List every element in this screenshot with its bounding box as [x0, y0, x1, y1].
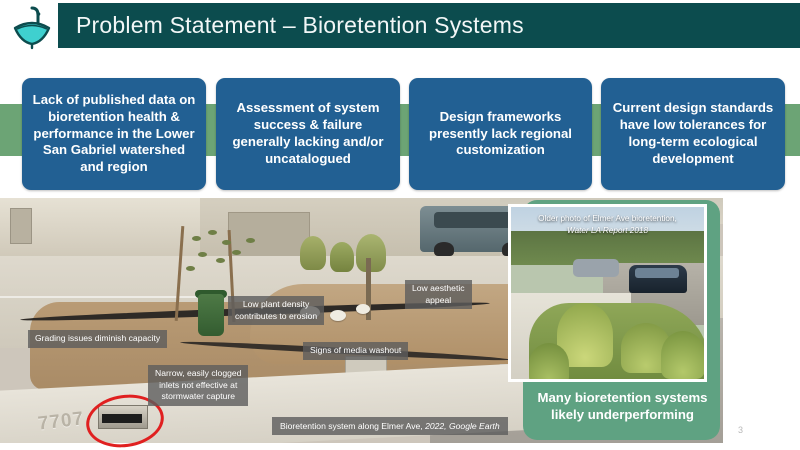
- annotation-low-aesthetic-appeal: Low aesthetic appeal: [405, 280, 472, 309]
- inset-suv-windshield: [635, 268, 679, 278]
- inset-caption-main: Older photo of Elmer Ave bioretention,: [538, 214, 677, 223]
- photo-shrub-3: [356, 234, 386, 272]
- problem-box-4: Current design standards have low tolera…: [601, 78, 785, 190]
- annotation-grading-issues: Grading issues diminish capacity: [28, 330, 167, 348]
- photo-caption-source: 2022, Google Earth: [425, 421, 500, 431]
- inset-caption-source: Water LA Report 2018: [567, 226, 648, 235]
- annotation-low-plant-density: Low plant density contributes to erosion: [228, 296, 324, 325]
- problem-box-2: Assessment of system success & failure g…: [216, 78, 400, 190]
- conclusion-text: Many bioretention systems likely underpe…: [530, 389, 715, 423]
- problem-box-1: Lack of published data on bioretention h…: [22, 78, 206, 190]
- problem-box-4-text: Current design standards have low tolera…: [601, 100, 785, 168]
- problem-box-2-text: Assessment of system success & failure g…: [216, 100, 400, 168]
- photo-window: [10, 208, 32, 244]
- inset-photo-older-elmer-ave: Older photo of Elmer Ave bioretention,Wa…: [508, 204, 707, 382]
- photo-car-window: [434, 212, 512, 228]
- inset-background-cars: [573, 259, 619, 277]
- photo-shrub-1: [300, 236, 326, 270]
- photo-green-trash-can: [198, 294, 224, 336]
- photo-rock-3: [356, 304, 370, 314]
- photo-caption-main: Bioretention system along Elmer Ave,: [280, 421, 425, 431]
- photo-rock-2: [330, 310, 346, 321]
- photo-caption: Bioretention system along Elmer Ave, 202…: [272, 417, 508, 435]
- slide-title-bar: Problem Statement – Bioretention Systems: [58, 3, 800, 48]
- slide-canvas: Problem Statement – Bioretention Systems…: [0, 0, 800, 450]
- inset-grass-clump-4: [661, 331, 705, 379]
- page-title: Problem Statement – Bioretention Systems: [76, 11, 524, 38]
- water-drop-umbrella-logo: [6, 2, 58, 52]
- photo-shrub-2: [330, 242, 354, 272]
- annotation-media-washout: Signs of media washout: [303, 342, 408, 360]
- problem-box-3-text: Design frameworks presently lack regiona…: [409, 109, 592, 160]
- inset-caption: Older photo of Elmer Ave bioretention,Wa…: [511, 213, 704, 237]
- photo-car-wheel-front: [434, 242, 454, 256]
- annotation-clogged-inlets: Narrow, easily clogged inlets not effect…: [148, 365, 248, 406]
- problem-box-1-text: Lack of published data on bioretention h…: [22, 92, 206, 176]
- inset-grass-clump-3: [529, 343, 569, 382]
- slide-number: 3: [738, 425, 743, 435]
- problem-box-3: Design frameworks presently lack regiona…: [409, 78, 592, 190]
